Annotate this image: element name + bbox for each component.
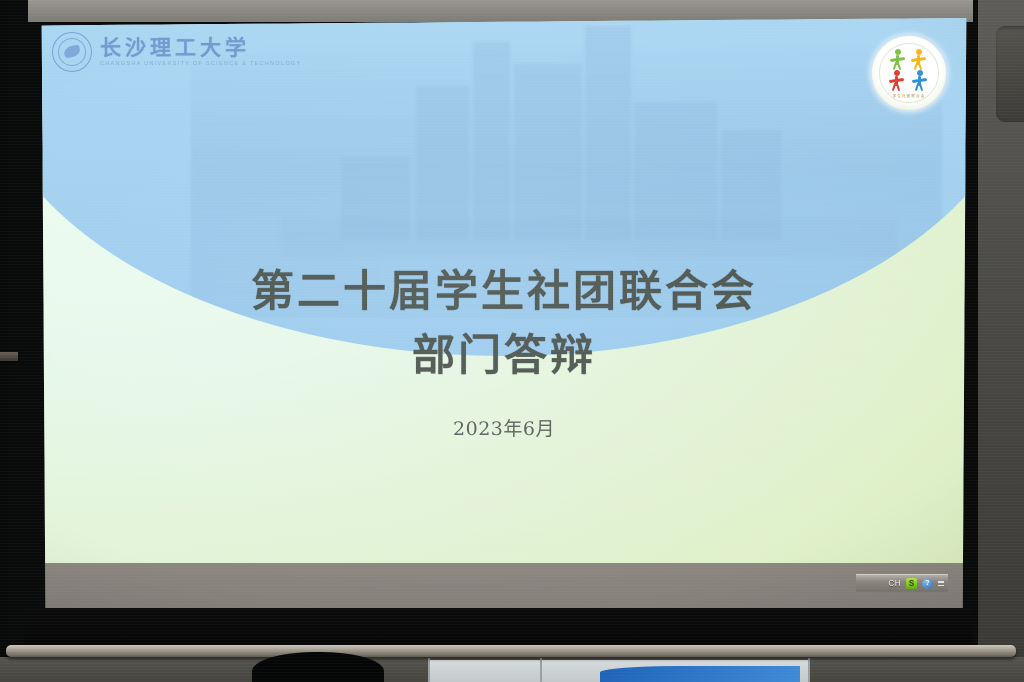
screen-bottom-casing: [24, 608, 972, 644]
wall-mounted-device: [996, 26, 1024, 122]
system-tray[interactable]: CH S ?: [856, 574, 948, 592]
building: [473, 42, 511, 240]
building: [514, 64, 582, 240]
university-name-cn: 长沙理工大学: [100, 37, 301, 58]
projection-area: 长沙理工大学 CHANGSHA UNIVERSITY OF SCIENCE & …: [38, 18, 970, 640]
tray-overflow-chevron-icon[interactable]: [938, 581, 944, 586]
building: [341, 157, 409, 239]
panel-seam: [540, 658, 542, 682]
figure-red-icon: [888, 71, 905, 88]
university-names: 长沙理工大学 CHANGSHA UNIVERSITY OF SCIENCE & …: [100, 37, 301, 68]
figure-yellow-icon: [910, 50, 927, 67]
screen-bottom-rail: [6, 645, 1016, 657]
projected-slide-photo: 长沙理工大学 CHANGSHA UNIVERSITY OF SCIENCE & …: [0, 0, 1024, 682]
building: [585, 26, 630, 240]
wall-blue-graphic: [600, 666, 800, 682]
emblem-inner: 学生社团联合会: [879, 43, 939, 103]
panel-seam: [428, 658, 430, 682]
building: [416, 86, 469, 240]
building: [634, 102, 717, 239]
club-union-emblem: 学生社团联合会: [870, 34, 948, 112]
university-name-en: CHANGSHA UNIVERSITY OF SCIENCE & TECHNOL…: [100, 62, 301, 68]
slide-subtitle-date: 2023年6月: [38, 414, 970, 441]
building: [721, 130, 781, 240]
university-seal-icon: [52, 32, 92, 72]
sogou-input-icon[interactable]: S: [906, 578, 917, 589]
emblem-rim-text: 学生社团联合会: [880, 94, 938, 99]
slide-title-line-1: 第二十届学生社团联合会: [38, 261, 970, 325]
qq-icon[interactable]: ?: [922, 578, 933, 589]
person-silhouette: [252, 652, 384, 682]
university-wordmark: 长沙理工大学 CHANGSHA UNIVERSITY OF SCIENCE & …: [52, 32, 301, 72]
slide-title-line-2: 部门答辩: [38, 325, 970, 389]
figure-green-icon: [889, 50, 906, 67]
figure-blue-icon: [911, 71, 928, 88]
ime-indicator[interactable]: CH: [888, 579, 901, 588]
panel-seam: [808, 658, 810, 682]
slide-title-block: 第二十届学生社团联合会 部门答辩 2023年6月: [38, 261, 970, 441]
presentation-slide: 长沙理工大学 CHANGSHA UNIVERSITY OF SCIENCE & …: [38, 18, 970, 563]
screen-top-casing: [28, 0, 973, 22]
